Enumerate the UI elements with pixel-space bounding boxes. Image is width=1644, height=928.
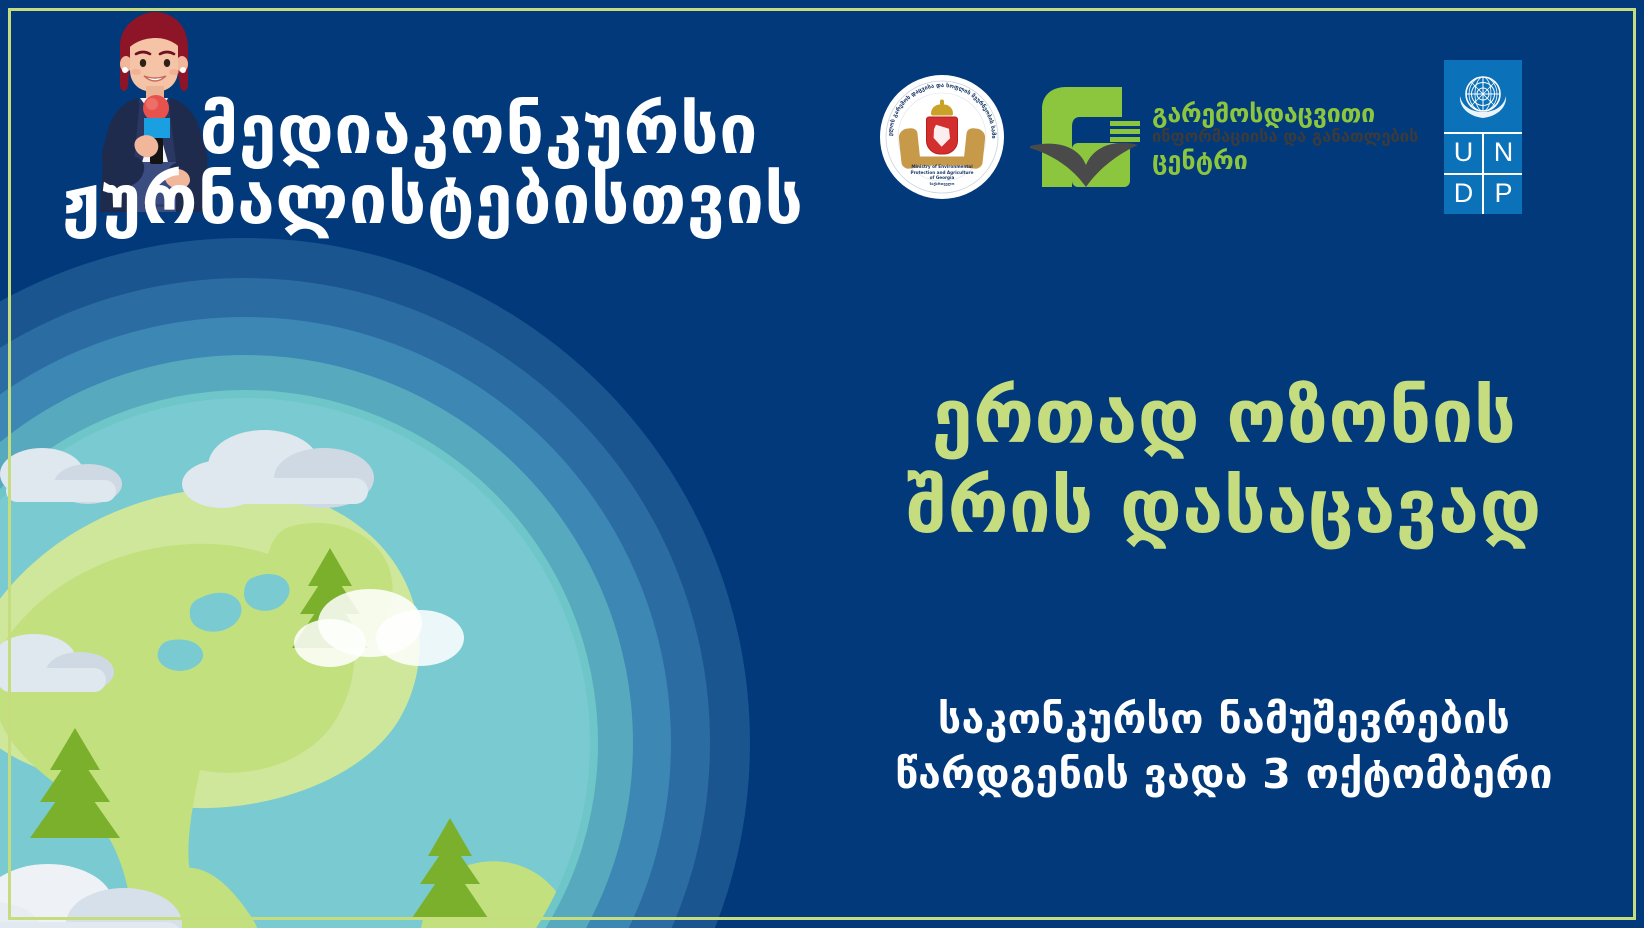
emblem-ka-bottom: საქართველო bbox=[900, 182, 984, 187]
face bbox=[130, 38, 178, 92]
undp-logo: U N D P bbox=[1444, 60, 1522, 214]
lion-left-icon bbox=[898, 127, 921, 169]
georgia-coat-of-arms bbox=[904, 104, 980, 165]
emblem-english-name: Ministry of Environmental Protection and… bbox=[900, 164, 984, 187]
poster-canvas: მედიაკონკურსი ჟურნალისტებისთვის საქართვე… bbox=[0, 0, 1644, 928]
deadline-line-2: წარდგენის ვადა 3 ოქტომბერი bbox=[864, 747, 1584, 802]
message-line-2: შრის დასაცავად bbox=[864, 462, 1584, 552]
st-george-figure bbox=[932, 125, 952, 147]
partner-logo-strip: საქართველოს გარემოს დაცვისა და სოფლის მე… bbox=[880, 62, 1522, 212]
eiec-logo: გარემოსდაცვითი ინფორმაციისა და განათლები… bbox=[1030, 83, 1418, 191]
cloud-upper-right bbox=[172, 404, 402, 514]
undp-letter-d: D bbox=[1444, 175, 1482, 214]
shield-icon bbox=[926, 116, 958, 154]
cloud-small-left bbox=[0, 424, 146, 514]
lion-right-icon bbox=[963, 127, 986, 169]
eiec-stripe-1 bbox=[1110, 121, 1140, 126]
eiec-text-line-1: გარემოსდაცვითი bbox=[1152, 101, 1418, 126]
poster-headline: მედიაკონკურსი ჟურნალისტებისთვის bbox=[62, 96, 802, 236]
campaign-message: ერთად ოზონის შრის დასაცავად bbox=[864, 372, 1584, 553]
ministry-of-environment-emblem: საქართველოს გარემოს დაცვისა და სოფლის მე… bbox=[880, 75, 1004, 199]
message-line-1: ერთად ოზონის bbox=[864, 372, 1584, 462]
eiec-logo-mark bbox=[1030, 83, 1142, 191]
emblem-en-line3: of Georgia bbox=[900, 175, 984, 181]
cloud-lower-right bbox=[0, 828, 228, 928]
earring-right bbox=[180, 67, 186, 73]
deadline-line-1: საკონკურსო ნამუშევრების bbox=[864, 692, 1584, 747]
headline-line-1: მედიაკონკურსი bbox=[62, 96, 802, 166]
emblem-en-line1: Ministry of Environmental bbox=[900, 164, 984, 170]
blush-left bbox=[131, 69, 141, 75]
earth-ozone-illustration bbox=[0, 238, 750, 928]
eiec-logo-text: გარემოსდაცვითი ინფორმაციისა და განათლები… bbox=[1152, 101, 1418, 173]
crown-icon bbox=[931, 104, 953, 115]
submission-deadline: საკონკურსო ნამუშევრების წარდგენის ვადა 3… bbox=[864, 692, 1584, 803]
eye-right bbox=[164, 59, 170, 67]
eiec-text-line-2: ინფორმაციისა და განათლების bbox=[1152, 129, 1418, 146]
headline-line-2: ჟურნალისტებისთვის bbox=[62, 166, 802, 236]
un-emblem-icon bbox=[1455, 68, 1511, 124]
earring-left bbox=[122, 67, 128, 73]
undp-letter-n: N bbox=[1484, 134, 1522, 173]
eiec-text-line-3: ცენტრი bbox=[1152, 148, 1418, 173]
undp-letter-p: P bbox=[1484, 175, 1522, 214]
eiec-stripe-3 bbox=[1110, 137, 1140, 142]
eye-left bbox=[140, 59, 146, 67]
undp-letter-u: U bbox=[1444, 134, 1482, 173]
blush-right bbox=[169, 69, 179, 75]
un-emblem bbox=[1444, 60, 1522, 134]
undp-letter-grid: U N D P bbox=[1444, 134, 1522, 214]
cloud-left-edge bbox=[0, 618, 122, 704]
eiec-stripe-2 bbox=[1110, 129, 1140, 134]
